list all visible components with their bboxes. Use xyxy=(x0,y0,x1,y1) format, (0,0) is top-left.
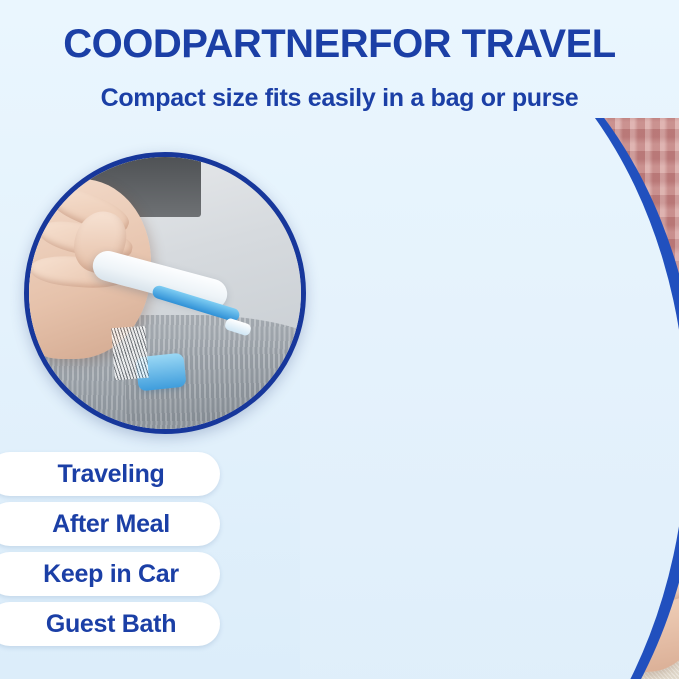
blue-swoosh-divider xyxy=(300,118,679,679)
page-subtitle: Compact size fits easily in a bag or pur… xyxy=(0,84,679,113)
feature-pill-after-meal[interactable]: After Meal xyxy=(0,502,220,546)
feature-pill-guest-bath[interactable]: Guest Bath xyxy=(0,602,220,646)
bristle-texture xyxy=(111,326,149,380)
product-marketing-image: 5-in-1 TOOTHBRUSH no water needed toothp… xyxy=(0,0,679,679)
right-panel-photo: 5-in-1 TOOTHBRUSH no water needed toothp… xyxy=(300,118,679,679)
feature-pill-keep-in-car[interactable]: Keep in Car xyxy=(0,552,220,596)
feature-pill-label: Traveling xyxy=(43,460,164,489)
feature-pill-label: Keep in Car xyxy=(29,560,179,589)
feature-pill-label: After Meal xyxy=(38,510,170,539)
feature-pill-list: Traveling After Meal Keep in Car Guest B… xyxy=(0,452,238,652)
feature-pill-label: Guest Bath xyxy=(32,610,176,639)
feature-pill-traveling[interactable]: Traveling xyxy=(0,452,220,496)
page-title: COODPARTNERFOR TRAVEL xyxy=(0,22,679,67)
left-circle-photo xyxy=(24,152,306,434)
